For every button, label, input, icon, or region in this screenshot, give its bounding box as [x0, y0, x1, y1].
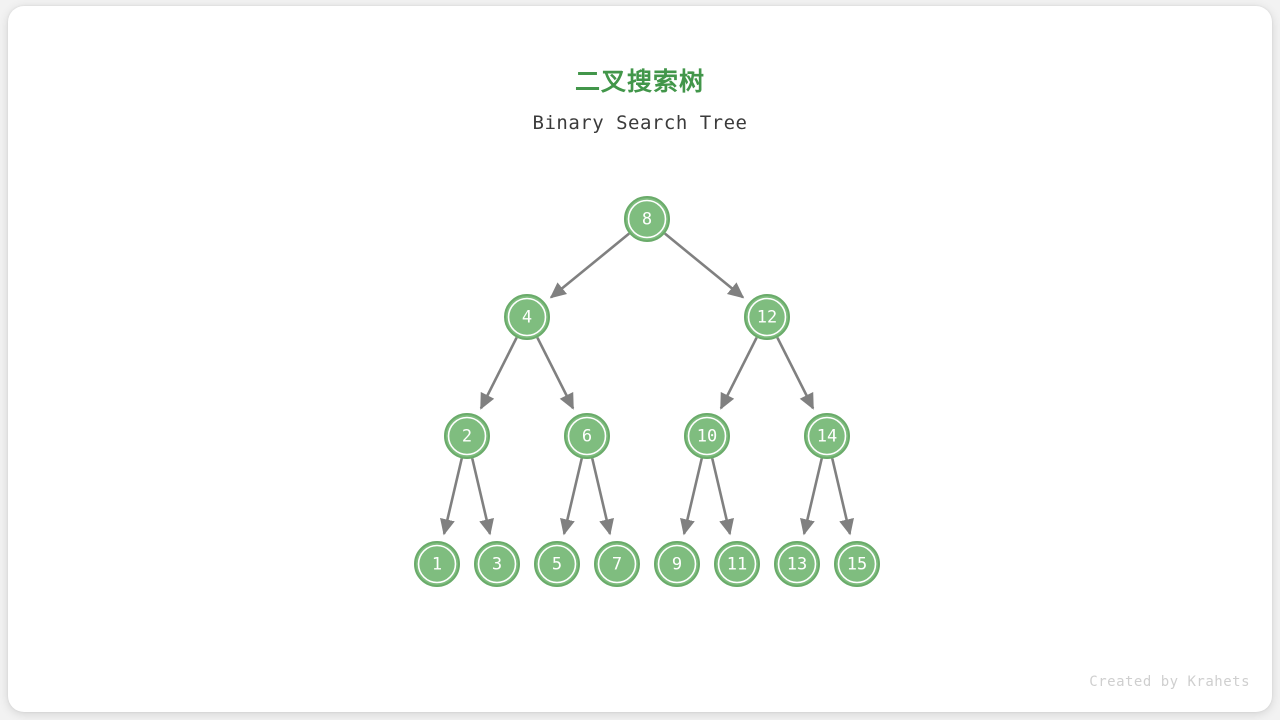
tree-node-label: 1 — [432, 555, 442, 575]
tree-edge — [665, 234, 743, 298]
tree-node-label: 4 — [522, 308, 532, 328]
tree-edge — [472, 458, 490, 533]
tree-edge — [444, 458, 462, 533]
tree-node-label: 13 — [787, 555, 807, 575]
tree-edge — [537, 338, 573, 409]
tree-node[interactable]: 1 — [415, 542, 459, 586]
tree-node-label: 5 — [552, 555, 562, 575]
tree-node-label: 11 — [727, 555, 747, 575]
tree-node[interactable]: 9 — [655, 542, 699, 586]
tree-edge — [551, 234, 629, 298]
tree-edge — [712, 458, 730, 533]
tree-edge — [804, 458, 822, 533]
tree-node[interactable]: 2 — [445, 414, 489, 458]
tree-edge — [592, 458, 610, 533]
tree-edge — [777, 338, 813, 409]
tree-edges — [444, 234, 850, 534]
tree-edge — [721, 338, 757, 409]
tree-node-label: 14 — [817, 427, 837, 447]
tree-node[interactable]: 14 — [805, 414, 849, 458]
diagram-card: 二叉搜索树 Binary Search Tree 841226101413579… — [8, 6, 1272, 712]
tree-node[interactable]: 11 — [715, 542, 759, 586]
tree-edge — [564, 458, 582, 533]
tree-node-label: 3 — [492, 555, 502, 575]
tree-node-label: 6 — [582, 427, 592, 447]
tree-edge — [481, 338, 517, 409]
tree-edge — [684, 458, 702, 533]
tree-node[interactable]: 12 — [745, 295, 789, 339]
tree-node-label: 9 — [672, 555, 682, 575]
tree-edge — [832, 458, 850, 533]
tree-node-label: 8 — [642, 210, 652, 230]
tree-node-label: 10 — [697, 427, 717, 447]
tree-node[interactable]: 10 — [685, 414, 729, 458]
tree-node[interactable]: 3 — [475, 542, 519, 586]
screenshot-canvas: 二叉搜索树 Binary Search Tree 841226101413579… — [0, 0, 1280, 720]
tree-node[interactable]: 15 — [835, 542, 879, 586]
tree-node[interactable]: 8 — [625, 197, 669, 241]
tree-node-label: 2 — [462, 427, 472, 447]
tree-node-label: 12 — [757, 308, 777, 328]
tree-node[interactable]: 4 — [505, 295, 549, 339]
tree-node-label: 7 — [612, 555, 622, 575]
tree-node-label: 15 — [847, 555, 867, 575]
tree-node[interactable]: 5 — [535, 542, 579, 586]
binary-search-tree-diagram: 841226101413579111315 — [8, 6, 1272, 712]
tree-node[interactable]: 6 — [565, 414, 609, 458]
tree-node[interactable]: 13 — [775, 542, 819, 586]
credit-text: Created by Krahets — [1089, 674, 1250, 690]
tree-nodes: 841226101413579111315 — [415, 197, 879, 586]
tree-node[interactable]: 7 — [595, 542, 639, 586]
